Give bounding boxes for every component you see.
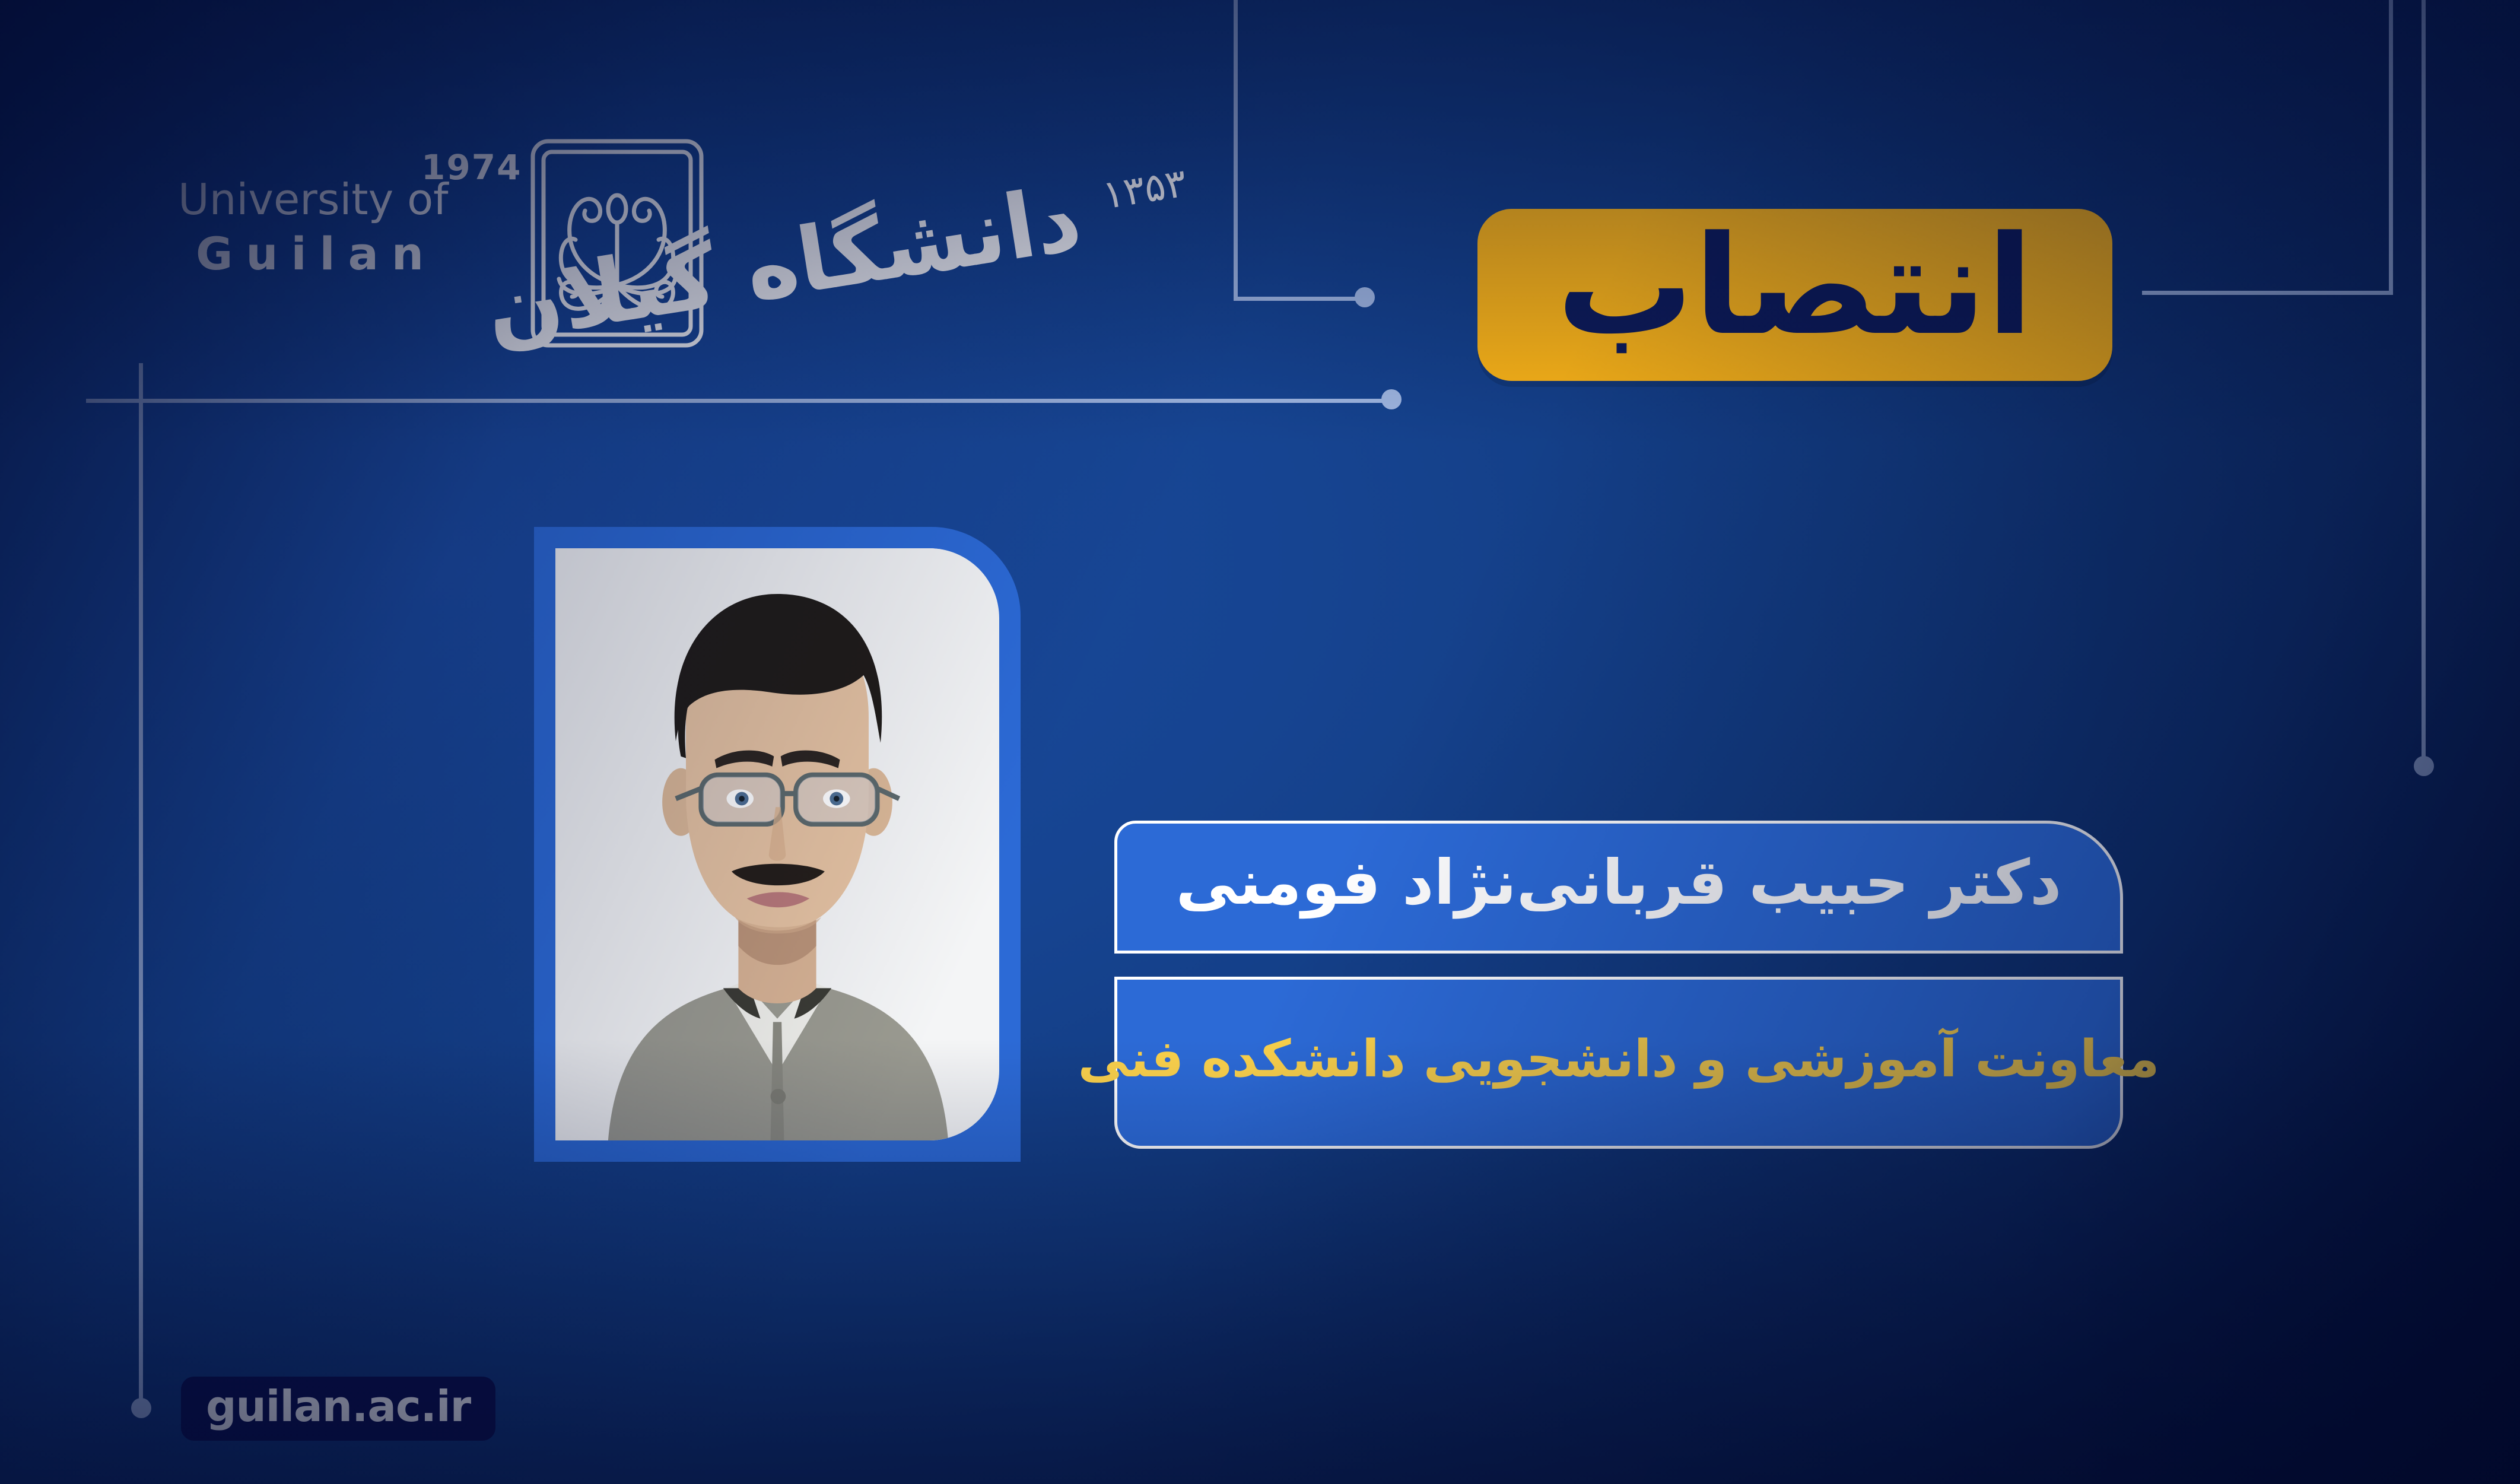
logo-english-text: University of Guilan	[178, 178, 510, 277]
person-name-banner: دکتر حبیب قربانی‌نژاد فومنی	[1114, 821, 2123, 954]
appointment-poster: 1974 University of Guilan	[0, 0, 2520, 1484]
website-pill[interactable]: guilan.ac.ir	[181, 1377, 495, 1441]
decorative-dot-top-center-end	[1355, 287, 1375, 307]
person-role: معاونت آموزشی و دانشجویی دانشکده فنی	[1078, 1029, 2160, 1089]
logo-guilan-word: Guilan	[178, 231, 510, 277]
decorative-line-top-center-vertical	[1234, 0, 1238, 300]
logo-university-word: University of	[178, 178, 510, 221]
portrait-photo	[555, 548, 999, 1140]
decorative-line-right-outer-vertical	[2422, 0, 2426, 765]
decorative-line-right-inner-horizontal	[2142, 291, 2393, 295]
headline-badge: انتصاب	[1477, 209, 2112, 381]
logo-year-persian: ۱۳۵۳	[1099, 160, 1190, 218]
logo-persian-text: ۱۳۵۳ دانشگاه گیلان	[700, 131, 1187, 356]
decorative-line-logo-underline	[86, 399, 1391, 403]
decorative-line-top-center-horizontal	[1234, 297, 1364, 301]
decorative-dot-logo-underline-end	[1381, 389, 1402, 409]
decorative-line-left-vertical	[139, 363, 143, 1409]
person-name: دکتر حبیب قربانی‌نژاد فومنی	[1176, 846, 2062, 919]
university-logo: 1974 University of Guilan	[178, 119, 1199, 368]
decorative-dot-right-outer-end	[2414, 756, 2434, 776]
decorative-dot-left-bottom	[131, 1398, 151, 1418]
portrait-frame	[534, 527, 1021, 1162]
decorative-line-right-inner-vertical	[2389, 0, 2393, 295]
headline-text: انتصاب	[1556, 222, 2033, 352]
person-role-banner: معاونت آموزشی و دانشجویی دانشکده فنی	[1114, 977, 2123, 1149]
website-url: guilan.ac.ir	[206, 1381, 471, 1431]
